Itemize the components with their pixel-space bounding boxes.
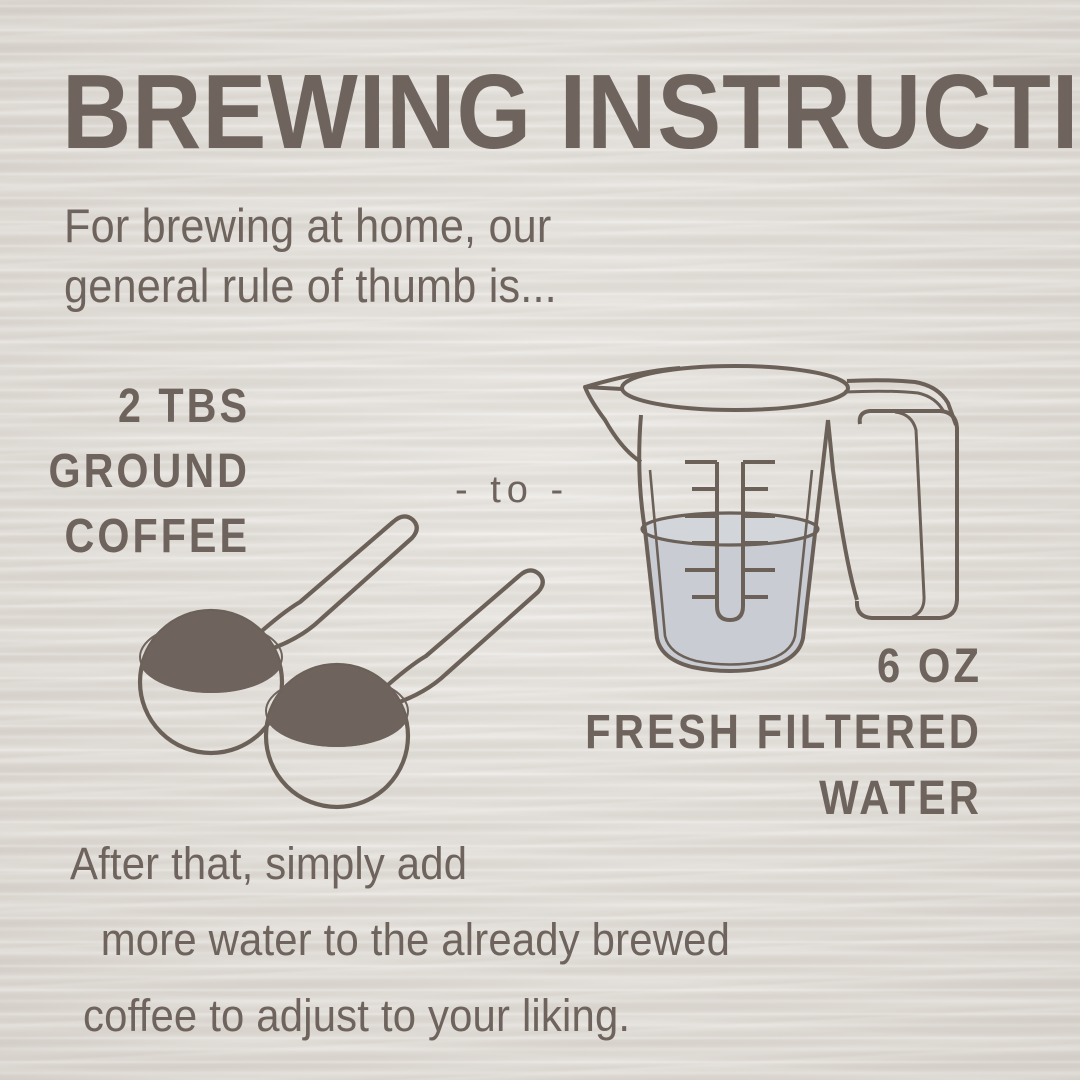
intro-line-2: general rule of thumb is... (64, 256, 708, 316)
outro-line-1: After that, simply add (70, 826, 963, 902)
brewing-instructions-poster: BREWING INSTRUCTIONS For brewing at home… (0, 0, 1080, 1080)
coffee-label-line-1: 2 TBS (35, 374, 250, 439)
outro-paragraph: After that, simply add more water to the… (70, 826, 963, 1054)
water-label-line-1: 6 OZ (530, 634, 982, 700)
page-title: BREWING INSTRUCTIONS (62, 62, 931, 162)
coffee-label-line-3: COFFEE (35, 504, 250, 569)
coffee-label-line-2: GROUND (35, 439, 250, 504)
intro-paragraph: For brewing at home, our general rule of… (64, 196, 708, 316)
ratio-connector-label: - to - (455, 468, 569, 512)
water-label-line-2: FRESH FILTERED (530, 700, 982, 766)
water-amount-label: 6 OZ FRESH FILTERED WATER (530, 634, 982, 832)
intro-line-1: For brewing at home, our (64, 196, 708, 256)
outro-line-2: more water to the already brewed (70, 902, 963, 978)
water-label-line-3: WATER (530, 766, 982, 832)
coffee-amount-label: 2 TBS GROUND COFFEE (35, 374, 250, 569)
outro-line-3: coffee to adjust to your liking. (70, 978, 963, 1054)
